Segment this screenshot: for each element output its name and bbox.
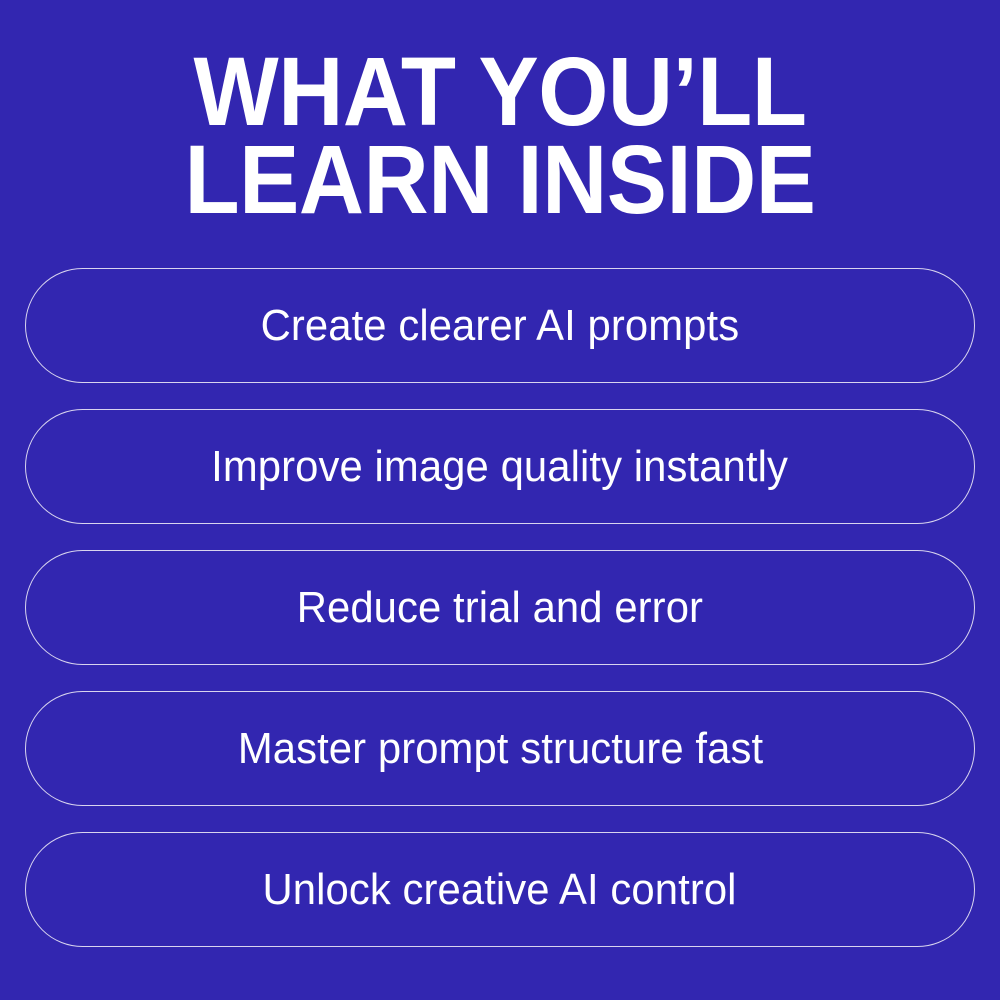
benefit-pill-label: Improve image quality instantly	[212, 445, 789, 489]
benefit-list: Create clearer AI prompts Improve image …	[25, 268, 975, 947]
page-title-line-2: LEARN INSIDE	[35, 136, 965, 224]
benefit-pill-1[interactable]: Create clearer AI prompts	[25, 268, 975, 383]
benefit-pill-label: Unlock creative AI control	[263, 868, 737, 912]
benefit-pill-3[interactable]: Reduce trial and error	[25, 550, 975, 665]
benefit-pill-label: Create clearer AI prompts	[261, 304, 740, 348]
benefit-pill-2[interactable]: Improve image quality instantly	[25, 409, 975, 524]
page-title-line-1: WHAT YOU’LL	[35, 48, 965, 136]
benefit-pill-label: Master prompt structure fast	[237, 727, 762, 771]
page-title: WHAT YOU’LL LEARN INSIDE	[35, 0, 965, 224]
slide-canvas: WHAT YOU’LL LEARN INSIDE Create clearer …	[0, 0, 1000, 1000]
benefit-pill-4[interactable]: Master prompt structure fast	[25, 691, 975, 806]
benefit-pill-5[interactable]: Unlock creative AI control	[25, 832, 975, 947]
benefit-pill-label: Reduce trial and error	[297, 586, 703, 630]
